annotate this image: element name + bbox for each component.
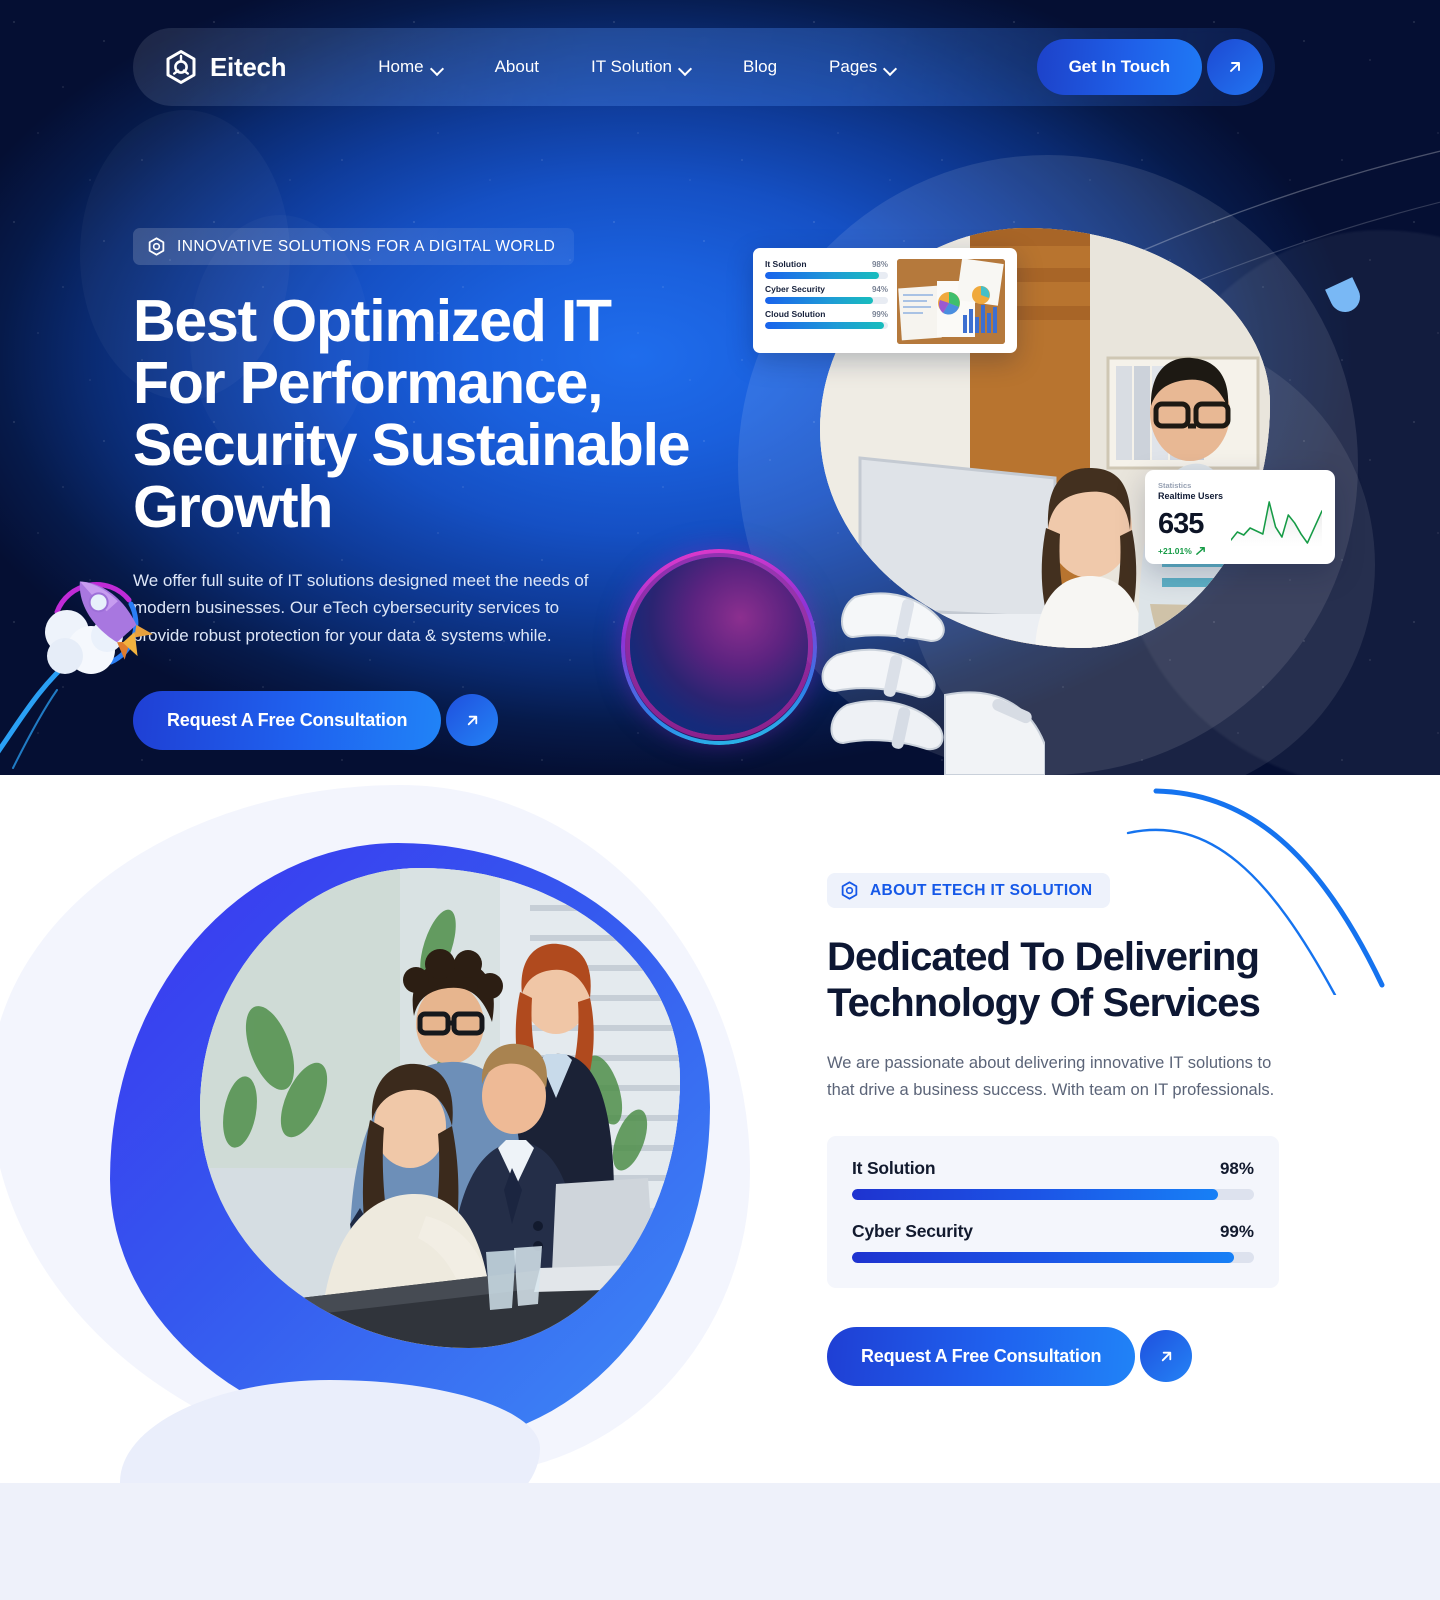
- hero-badge-label: INNOVATIVE SOLUTIONS FOR A DIGITAL WORLD: [177, 238, 555, 256]
- skill-value: 94%: [872, 285, 888, 294]
- skill-label: Cyber Security: [765, 284, 825, 294]
- progress-track: [852, 1252, 1254, 1263]
- robot-hand-illustration: [795, 575, 1045, 775]
- hero-badge: INNOVATIVE SOLUTIONS FOR A DIGITAL WORLD: [133, 228, 574, 265]
- chevron-down-icon: [885, 64, 896, 71]
- arrow-up-right-icon: [1157, 1347, 1176, 1366]
- about-cta-group: Request A Free Consultation: [827, 1327, 1297, 1386]
- progress-fill: [852, 1189, 1218, 1200]
- about-heading: Dedicated To Delivering Technology Of Se…: [827, 934, 1297, 1027]
- hexagon-logo-icon: [163, 49, 199, 85]
- hero-heading: Best Optimized IT For Performance, Secur…: [133, 291, 713, 539]
- skill-row: It Solution 98%: [765, 259, 888, 279]
- skill-progress-fill: [765, 272, 879, 279]
- navbar-cta-group: Get In Touch: [1037, 39, 1263, 95]
- skills-card-thumbnail: [897, 259, 1005, 344]
- about-request-consultation-arrow-button[interactable]: [1140, 1330, 1192, 1382]
- skill-progress-fill: [765, 297, 873, 304]
- main-navbar: Eitech Home About IT Solution Blog: [133, 28, 1275, 106]
- skill-label: Cloud Solution: [765, 309, 825, 319]
- nav-item-label: Blog: [743, 57, 777, 77]
- brand-logo[interactable]: Eitech: [163, 49, 286, 85]
- progress-label: Cyber Security: [852, 1221, 973, 1242]
- progress-row: It Solution 98%: [852, 1158, 1254, 1200]
- skill-progress-fill: [765, 322, 884, 329]
- progress-value: 99%: [1220, 1222, 1254, 1242]
- nav-item-home[interactable]: Home: [352, 57, 468, 77]
- stat-title: Realtime Users: [1158, 491, 1223, 501]
- nav-links: Home About IT Solution Blog Pages: [352, 57, 922, 77]
- realtime-users-sparkline: [1231, 481, 1322, 553]
- get-in-touch-button[interactable]: Get In Touch: [1037, 39, 1202, 95]
- nav-item-label: About: [495, 57, 539, 77]
- hero-skills-card: It Solution 98% Cyber Security 94%: [753, 248, 1017, 353]
- stat-delta-label: +21.01%: [1158, 546, 1192, 556]
- nav-item-label: IT Solution: [591, 57, 672, 77]
- globe-ring-decoration: [621, 549, 817, 745]
- arrow-up-right-icon: [1225, 57, 1245, 77]
- arrow-up-right-icon: [463, 711, 482, 730]
- about-badge: ABOUT ETECH IT SOLUTION: [827, 873, 1110, 908]
- progress-label: It Solution: [852, 1158, 935, 1179]
- sparkline-chart: [1231, 499, 1322, 547]
- skill-row: Cyber Security 94%: [765, 284, 888, 304]
- chevron-down-icon: [680, 64, 691, 71]
- charts-photo-illustration: [897, 259, 1005, 344]
- nav-item-blog[interactable]: Blog: [717, 57, 803, 77]
- skill-progress-track: [765, 297, 888, 304]
- realtime-users-card: Statistics Realtime Users 635 +21.01%: [1145, 470, 1335, 564]
- about-badge-label: ABOUT ETECH IT SOLUTION: [870, 882, 1092, 900]
- skill-progress-track: [765, 272, 888, 279]
- about-section: ABOUT ETECH IT SOLUTION Dedicated To Del…: [0, 775, 1440, 1483]
- trend-up-icon: [1195, 545, 1206, 556]
- stat-delta: +21.01%: [1158, 545, 1223, 556]
- rocket-illustration: [0, 540, 195, 770]
- skills-list: It Solution 98% Cyber Security 94%: [765, 259, 888, 344]
- nav-item-label: Pages: [829, 57, 877, 77]
- about-paragraph: We are passionate about delivering innov…: [827, 1050, 1279, 1104]
- bottom-band: [0, 1483, 1440, 1600]
- stat-kicker: Statistics: [1158, 481, 1223, 490]
- chevron-down-icon: [432, 64, 443, 71]
- nav-item-about[interactable]: About: [469, 57, 565, 77]
- brand-name: Eitech: [210, 52, 286, 83]
- progress-row: Cyber Security 99%: [852, 1221, 1254, 1263]
- skill-progress-track: [765, 322, 888, 329]
- skill-row: Cloud Solution 99%: [765, 309, 888, 329]
- hero-paragraph: We offer full suite of IT solutions desi…: [133, 567, 607, 650]
- about-progress-box: It Solution 98% Cyber Security 99%: [827, 1136, 1279, 1288]
- hero-request-consultation-arrow-button[interactable]: [446, 694, 498, 746]
- hexagon-logo-icon: [840, 881, 859, 900]
- progress-fill: [852, 1252, 1234, 1263]
- progress-value: 98%: [1220, 1159, 1254, 1179]
- nav-item-label: Home: [378, 57, 423, 77]
- hexagon-logo-icon: [147, 237, 166, 256]
- nav-item-it-solution[interactable]: IT Solution: [565, 57, 717, 77]
- skill-value: 99%: [872, 310, 888, 319]
- stat-value: 635: [1158, 510, 1223, 539]
- skill-value: 98%: [872, 260, 888, 269]
- landing-page: Eitech Home About IT Solution Blog: [0, 0, 1440, 1600]
- progress-track: [852, 1189, 1254, 1200]
- get-in-touch-arrow-button[interactable]: [1207, 39, 1263, 95]
- about-content: ABOUT ETECH IT SOLUTION Dedicated To Del…: [827, 873, 1297, 1386]
- nav-item-pages[interactable]: Pages: [803, 57, 922, 77]
- hero-section: Eitech Home About IT Solution Blog: [0, 0, 1440, 775]
- about-request-consultation-button[interactable]: Request A Free Consultation: [827, 1327, 1135, 1386]
- skill-label: It Solution: [765, 259, 807, 269]
